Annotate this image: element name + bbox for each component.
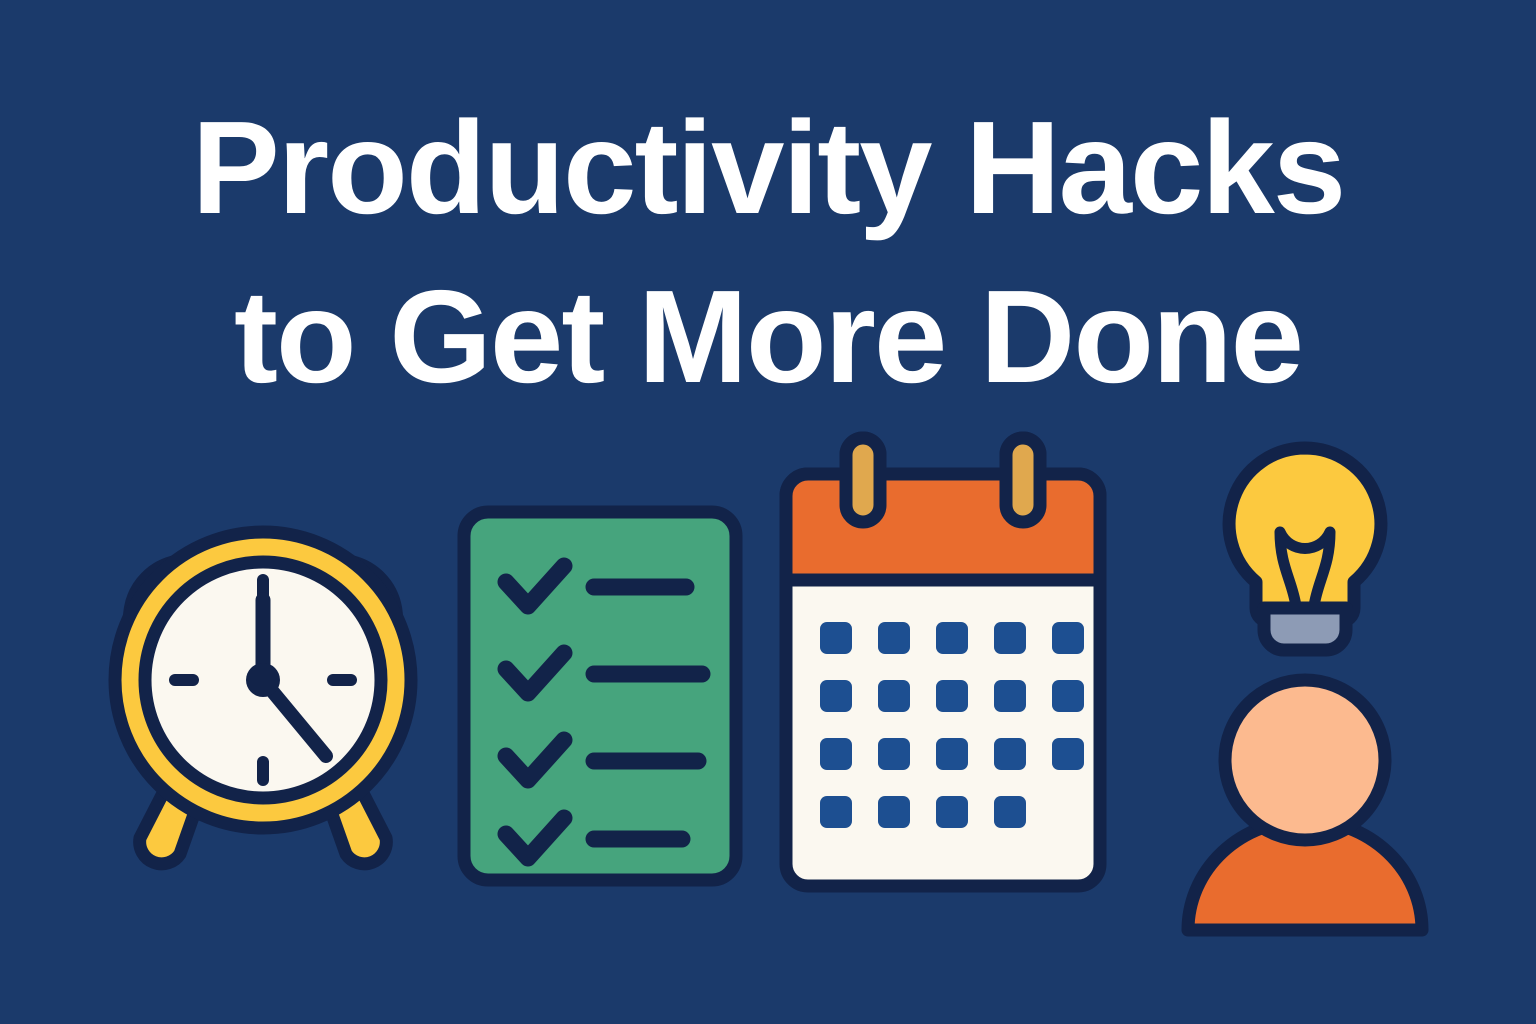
icon-row [0, 430, 1536, 950]
title-line-2: to Get More Done [100, 253, 1436, 422]
calendar-day [878, 680, 910, 712]
calendar-day [994, 622, 1026, 654]
clock-center-pin [246, 663, 280, 697]
calendar-day [820, 680, 852, 712]
calendar-day [820, 738, 852, 770]
idea-person-icon [1140, 430, 1470, 950]
calendar-day [878, 796, 910, 828]
calendar-ring-left-front [846, 438, 880, 522]
calendar-day [994, 738, 1026, 770]
title-line-1: Productivity Hacks [100, 84, 1436, 253]
calendar-day [820, 622, 852, 654]
bulb-base [1264, 608, 1346, 650]
calendar-day [936, 680, 968, 712]
calendar-day [820, 796, 852, 828]
calendar-icon [778, 430, 1128, 950]
calendar-day [1052, 622, 1084, 654]
calendar-ring-right-front [1006, 438, 1040, 522]
calendar-day [878, 738, 910, 770]
calendar-day [936, 738, 968, 770]
poster-canvas: Productivity Hacks to Get More Done [0, 0, 1536, 1024]
calendar-day [936, 622, 968, 654]
calendar-day [1052, 738, 1084, 770]
bulb-glass [1229, 448, 1381, 622]
calendar-day [878, 622, 910, 654]
page-title: Productivity Hacks to Get More Done [0, 84, 1536, 422]
lightbulb-icon [1229, 448, 1381, 650]
calendar-day [936, 796, 968, 828]
calendar-day [994, 796, 1026, 828]
alarm-clock-icon [88, 430, 438, 950]
checklist-card [464, 512, 736, 880]
person-avatar [1188, 680, 1422, 930]
checklist-icon [452, 430, 752, 950]
calendar-day [994, 680, 1026, 712]
person-head [1225, 680, 1385, 840]
calendar-day [1052, 680, 1084, 712]
calendar-header [786, 474, 1100, 580]
